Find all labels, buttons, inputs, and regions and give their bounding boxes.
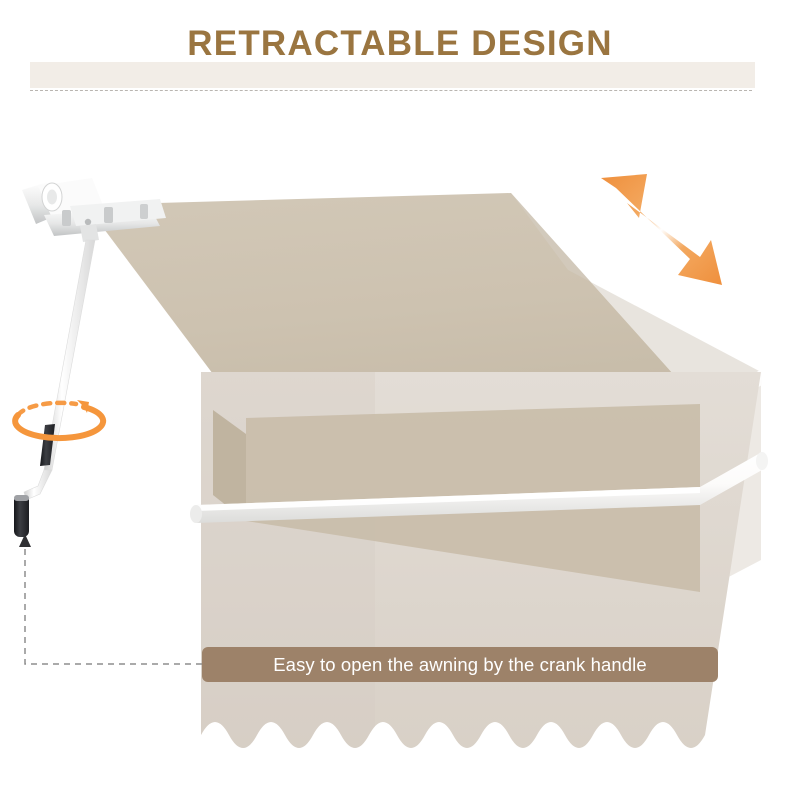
pivot-knuckle-a (62, 210, 71, 226)
pivot-knuckle-b (104, 207, 113, 223)
caption-leader-line (19, 534, 202, 664)
roller-end-cap-inner (47, 190, 57, 205)
front-bar-end-cap-left (190, 505, 202, 523)
crank-grip-lower-collar (14, 495, 29, 501)
rotation-ring-dashed (18, 403, 76, 415)
feature-caption-bar: Easy to open the awning by the crank han… (202, 647, 718, 682)
pivot-knuckle-c (140, 204, 148, 219)
feature-caption-text: Easy to open the awning by the crank han… (273, 654, 647, 676)
crank-grip-lower (14, 495, 29, 537)
crank-rod-bend (24, 470, 52, 500)
front-bar-end-cap-right (756, 452, 768, 470)
extend-retract-arrow-icon (601, 174, 722, 285)
crank-handle (14, 240, 95, 537)
product-feature-image: RETRACTABLE DESIGN (0, 0, 800, 800)
bracket-bolt (85, 219, 91, 225)
leader-path (25, 546, 202, 664)
double-arrow-shape (601, 174, 722, 285)
crank-gearbox (80, 224, 99, 242)
